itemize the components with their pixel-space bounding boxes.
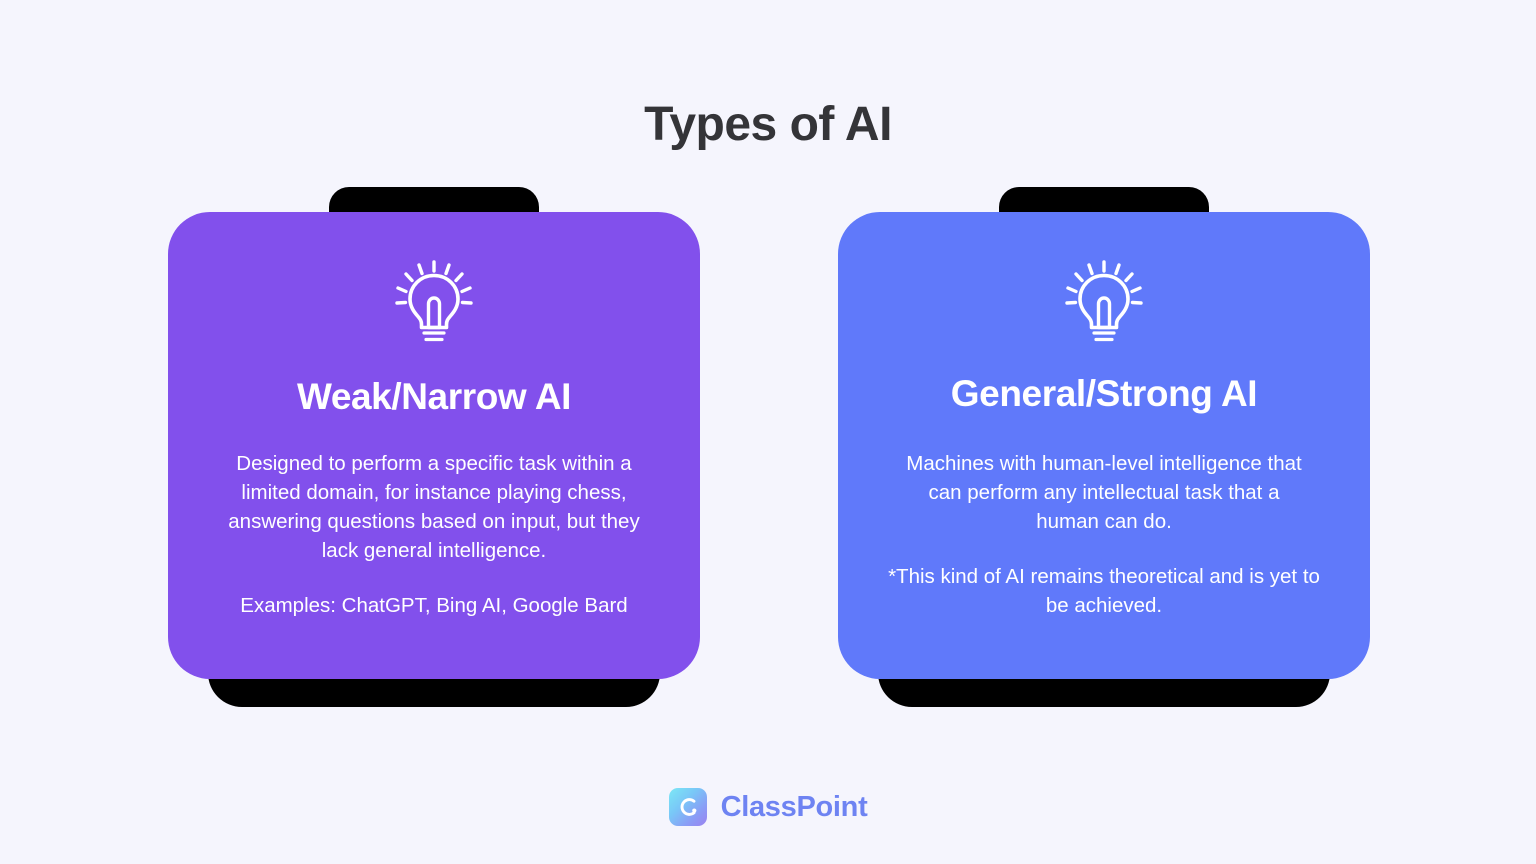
lightbulb-icon <box>395 260 473 342</box>
card-description: Machines with human-level intelligence t… <box>898 449 1310 536</box>
lightbulb-icon <box>1065 260 1143 342</box>
card-body-weak-narrow-ai[interactable]: Weak/Narrow AI Designed to perform a spe… <box>168 212 700 679</box>
page-title: Types of AI <box>0 96 1536 154</box>
letter-c-glyph <box>676 795 700 819</box>
slide-canvas: Types of AI <box>0 0 1536 864</box>
card-description: Designed to perform a specific task with… <box>218 449 650 565</box>
card-body-general-strong-ai[interactable]: General/Strong AI Machines with human-le… <box>838 212 1370 679</box>
brand-footer: ClassPoint <box>0 788 1536 826</box>
brand-name: ClassPoint <box>721 791 868 824</box>
card-title: General/Strong AI <box>951 373 1257 416</box>
card-title: Weak/Narrow AI <box>297 376 571 419</box>
cards-row: Weak/Narrow AI Designed to perform a spe… <box>0 187 1536 707</box>
card-note: Examples: ChatGPT, Bing AI, Google Bard <box>240 591 627 620</box>
card-weak-narrow-ai[interactable]: Weak/Narrow AI Designed to perform a spe… <box>168 187 700 707</box>
classpoint-logo-icon <box>669 788 707 826</box>
card-general-strong-ai[interactable]: General/Strong AI Machines with human-le… <box>838 187 1370 707</box>
card-note: *This kind of AI remains theoretical and… <box>884 562 1324 620</box>
